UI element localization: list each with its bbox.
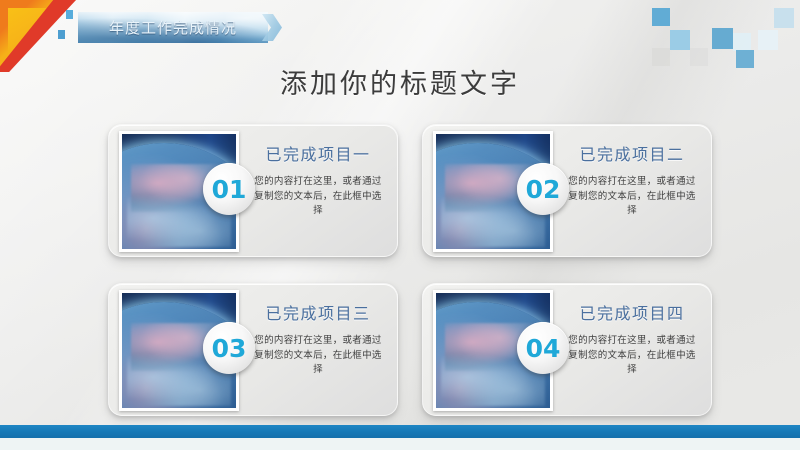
card-body: 已完成项目一您的内容打在这里，或者通过复制您的文本后，在此框中选择 xyxy=(247,135,389,248)
slide-canvas: 年度工作完成情况 添加你的标题文字 01已完成项目一您的内容打在这里，或者通过复… xyxy=(0,0,800,450)
card-body: 已完成项目二您的内容打在这里，或者通过复制您的文本后，在此框中选择 xyxy=(561,135,703,248)
project-card[interactable]: 04已完成项目四您的内容打在这里，或者通过复制您的文本后，在此框中选择 xyxy=(422,283,712,416)
card-description: 您的内容打在这里，或者通过复制您的文本后，在此框中选择 xyxy=(254,334,382,378)
card-body: 已完成项目四您的内容打在这里，或者通过复制您的文本后，在此框中选择 xyxy=(561,294,703,407)
card-description: 您的内容打在这里，或者通过复制您的文本后，在此框中选择 xyxy=(568,175,696,219)
project-card[interactable]: 01已完成项目一您的内容打在这里，或者通过复制您的文本后，在此框中选择 xyxy=(108,124,398,257)
square-1 xyxy=(652,8,670,26)
card-number-badge: 03 xyxy=(203,322,255,374)
card-grid: 01已完成项目一您的内容打在这里，或者通过复制您的文本后，在此框中选择02已完成… xyxy=(108,124,712,416)
project-card[interactable]: 02已完成项目二您的内容打在这里，或者通过复制您的文本后，在此框中选择 xyxy=(422,124,712,257)
square-6 xyxy=(733,33,751,51)
banner-label: 年度工作完成情况 xyxy=(78,12,268,43)
corner-blue-dash-lower xyxy=(58,30,65,39)
card-title: 已完成项目一 xyxy=(265,141,370,165)
corner-blue-dash-upper xyxy=(66,10,73,19)
square-8 xyxy=(758,30,778,50)
card-number-badge: 02 xyxy=(517,163,569,215)
card-number-badge: 01 xyxy=(203,163,255,215)
bottom-strip xyxy=(0,438,800,450)
square-5 xyxy=(712,28,733,49)
card-title: 已完成项目四 xyxy=(579,300,684,324)
header-banner: 年度工作完成情况 xyxy=(78,12,268,43)
square-2 xyxy=(670,30,690,50)
card-body: 已完成项目三您的内容打在这里，或者通过复制您的文本后，在此框中选择 xyxy=(247,294,389,407)
page-title: 添加你的标题文字 xyxy=(0,62,800,101)
square-9 xyxy=(774,8,794,28)
card-description: 您的内容打在这里，或者通过复制您的文本后，在此框中选择 xyxy=(254,175,382,219)
card-number-badge: 04 xyxy=(517,322,569,374)
bottom-accent-bar xyxy=(0,425,800,438)
project-card[interactable]: 03已完成项目三您的内容打在这里，或者通过复制您的文本后，在此框中选择 xyxy=(108,283,398,416)
card-title: 已完成项目二 xyxy=(579,141,684,165)
card-description: 您的内容打在这里，或者通过复制您的文本后，在此框中选择 xyxy=(568,334,696,378)
card-title: 已完成项目三 xyxy=(265,300,370,324)
